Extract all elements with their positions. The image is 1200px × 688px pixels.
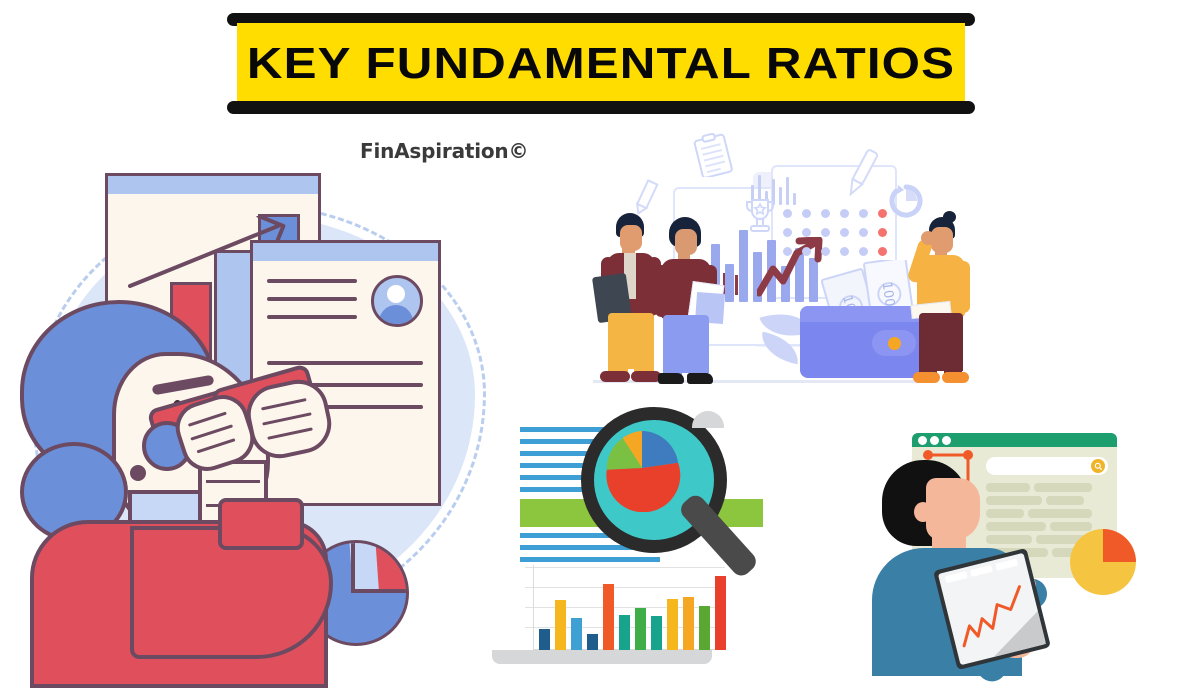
ear (914, 502, 932, 522)
chart-bar (667, 599, 678, 650)
chart-bar (603, 584, 614, 650)
wallet-clasp-dot (888, 337, 901, 350)
wallet-flap (800, 306, 922, 322)
light-tick (786, 177, 789, 205)
wallet-icon (800, 306, 922, 378)
chart-bar (539, 629, 550, 650)
calendar-dot (802, 228, 811, 237)
chart-bar (699, 606, 710, 650)
hair-bun (943, 211, 956, 223)
dashboard-bar (725, 264, 734, 302)
calendar-dot (859, 247, 868, 256)
card-header-band (108, 176, 318, 194)
calendar-dot (821, 228, 830, 237)
shoe-left (658, 373, 684, 384)
pen-icon (843, 147, 881, 201)
calendar-dot (859, 209, 868, 218)
calendar-dot (783, 209, 792, 218)
chart-bar (587, 634, 598, 650)
calendar-dot (802, 209, 811, 218)
person-thinking-with-book (905, 215, 975, 385)
dashboard-bar (739, 230, 748, 302)
calendar-dot-alert (878, 247, 887, 256)
pie-slice-blue (642, 431, 678, 468)
card-header-band (253, 243, 438, 261)
woman-figure (20, 290, 380, 675)
magnifier-glyph (1094, 462, 1103, 471)
tablet-screen (938, 553, 1046, 665)
search-icon[interactable] (1091, 459, 1105, 473)
growth-arrow-icon (757, 237, 827, 297)
report-line (520, 557, 660, 562)
doc-line-short (267, 279, 357, 283)
shoe-right (942, 372, 969, 383)
hand-at-head (921, 231, 935, 245)
calendar-dot (783, 247, 792, 256)
chart-bar (683, 597, 694, 650)
paper-line (206, 480, 260, 483)
ear (130, 465, 146, 481)
finger (262, 412, 312, 425)
poster-canvas: KEY FUNDAMENTAL RATIOS FinAspiration© (0, 0, 1200, 675)
avatar-body (379, 305, 413, 327)
light-tick (779, 187, 782, 205)
y-axis (533, 565, 534, 650)
pie-chart (598, 424, 686, 512)
calendar-dot (840, 247, 849, 256)
shoe-left (600, 371, 630, 382)
chart-bar (635, 608, 646, 650)
bar-chart (525, 565, 725, 650)
chart-bar (571, 618, 582, 650)
node-dot (923, 450, 933, 460)
calendar-dot-alert (878, 228, 887, 237)
light-tick (793, 193, 796, 205)
calendar-dot (840, 228, 849, 237)
finger (261, 398, 307, 410)
banner-bottom-rule (227, 101, 975, 114)
calendar-dot (783, 228, 792, 237)
finger (197, 438, 236, 453)
illustration-man-with-tablet (870, 415, 1190, 675)
tab (945, 571, 968, 583)
avatar-head (387, 285, 405, 303)
chart-bar (715, 576, 726, 650)
chart-bar (619, 615, 630, 650)
calendar-dot (859, 228, 868, 237)
calendar-dot-alert (878, 209, 887, 218)
arm-right (957, 261, 970, 313)
sleeve-cuff (218, 498, 304, 550)
pie-slice-orange (1103, 529, 1136, 562)
face (926, 478, 980, 540)
paper-corner (692, 411, 724, 428)
man-figure (870, 460, 1070, 675)
tab (995, 559, 1018, 571)
thin-bar (735, 275, 738, 295)
pencil-icon (630, 177, 662, 217)
illustration-team-dashboard: 100 100 (575, 125, 990, 410)
illustration-woman-with-binoculars (20, 155, 520, 675)
calendar-dot (821, 247, 830, 256)
pie-slice-red (606, 463, 680, 512)
shoe-left (913, 372, 940, 383)
shoe-right (687, 373, 713, 384)
finger (267, 427, 313, 439)
calendar-dot (840, 209, 849, 218)
finger (190, 424, 233, 440)
illustration-magnifier-report (495, 405, 770, 670)
chart-bar (651, 616, 662, 650)
calendar-dot (821, 209, 830, 218)
pie-chart (1068, 527, 1138, 597)
calendar-dot (802, 247, 811, 256)
chart-bar (555, 600, 566, 650)
node-dot (963, 450, 973, 460)
page-title: KEY FUNDAMENTAL RATIOS (193, 23, 1008, 104)
person-woman-with-documents (649, 217, 723, 385)
trophy-icon (743, 197, 777, 237)
title-banner: KEY FUNDAMENTAL RATIOS (227, 13, 975, 114)
paper-bottom-edge (492, 650, 712, 664)
clipboard-icon (692, 133, 736, 177)
pie-progress-icon (888, 183, 924, 219)
tab (970, 565, 993, 577)
arm-left (655, 265, 668, 317)
finger (188, 412, 227, 427)
